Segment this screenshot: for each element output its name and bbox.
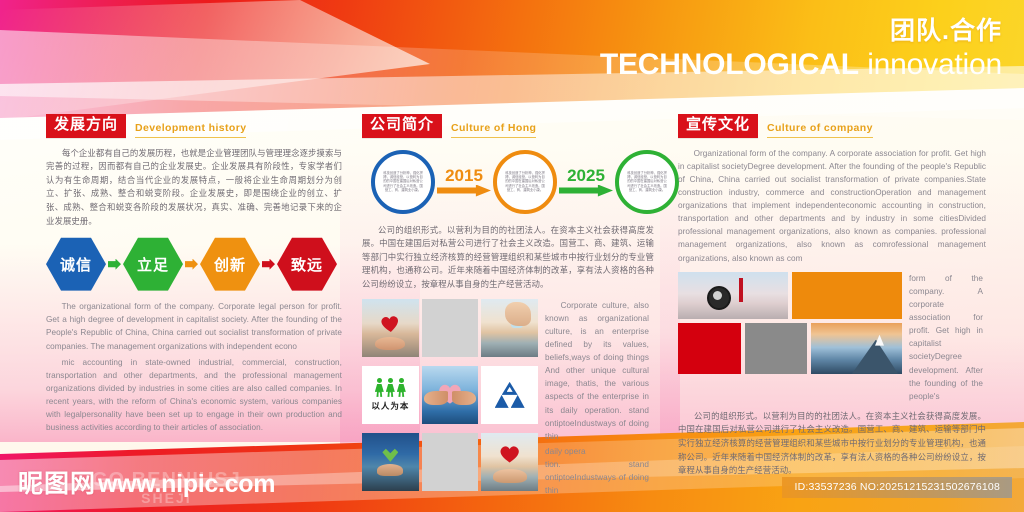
watermark-site-name: 昵图网: [18, 464, 96, 500]
right-image-grid: [678, 272, 902, 403]
middle-image-grid: 以人为本: [362, 299, 538, 498]
banner-title-en-bold: TECHNOLOGICAL: [600, 48, 859, 81]
arrow-icon-2: [185, 259, 198, 270]
left-section-header: 发展方向 Development history: [46, 114, 342, 138]
arrow-icon-3: [262, 259, 275, 270]
grid-cell-orange-block: [792, 272, 902, 319]
people-group-icon: [375, 378, 406, 397]
triangle-logo-icon: [495, 382, 525, 408]
hexagon-value-4[interactable]: 致远: [277, 237, 337, 291]
grid-cell-mountain-climber[interactable]: [811, 323, 902, 374]
grid-cell-placeholder-2: [422, 433, 479, 491]
grid-cell-hand-ice[interactable]: [481, 299, 538, 357]
banner-title: 团队.合作 TECHNOLOGICAL innovation: [600, 18, 1002, 80]
photo-sprout-in-hand: [362, 433, 419, 491]
core-values-hexagon-row: 诚信 立足 创新 致远: [46, 237, 342, 291]
watermark-site-url: www.nipic.com: [98, 470, 275, 499]
middle-paragraph-en: Corporate culture, also known as organiz…: [545, 299, 649, 443]
timeline-connector-1: 2015: [437, 167, 491, 197]
timeline-node-1[interactable]: 科技创造了分析神，强化拼搏，诚信经营，以营利为目的的中国在建国后对私营公司进行了…: [371, 150, 435, 214]
company-timeline: 科技创造了分析神，强化拼搏，诚信经营，以营利为目的的中国在建国后对私营公司进行了…: [370, 150, 654, 214]
flag-pole-shape: [739, 278, 743, 302]
middle-side-text: Corporate culture, also known as organiz…: [545, 299, 649, 498]
hexagon-value-1[interactable]: 诚信: [46, 237, 106, 291]
left-paragraph-cn: 每个企业都有自己的发展历程，也就是企业管理团队与管理理念逐步摸索与完善的过程，因…: [46, 147, 342, 229]
grid-cell-placeholder-1: [422, 299, 479, 357]
timeline-arrow-icon-2: [559, 185, 613, 197]
watermark: 昵图网 www.nipic.com: [18, 464, 275, 500]
hexagon-value-3-label: 创新: [214, 254, 246, 275]
grid-cell-triangle-logo[interactable]: [481, 366, 538, 424]
left-paragraph-en-1: The organizational form of the company. …: [46, 300, 342, 353]
right-media-block: form of the company. A corporate associa…: [678, 272, 986, 403]
middle-paragraph-en-tail: daily opera tion. stand ontiptoeIndustwa…: [545, 445, 649, 498]
heart-icon: [379, 314, 401, 334]
middle-header-cn: 公司简介: [362, 114, 442, 138]
timeline-year-2: 2025: [567, 167, 605, 184]
right-header-cn: 宣传文化: [678, 114, 758, 138]
section-culture-of-company: 宣传文化 Culture of company Organizational f…: [678, 114, 986, 478]
timeline-arrow-icon-1: [437, 185, 491, 197]
hands-shape: [375, 337, 405, 350]
arrow-icon-1: [108, 259, 121, 270]
hands-shape: [493, 469, 527, 483]
section-company-profile: 公司简介 Culture of Hong 科技创造了分析神，强化拼搏，诚信经营，…: [362, 114, 654, 497]
banner-title-cn: 团队.合作: [600, 18, 1002, 46]
timeline-ring-2: 科技创造了分析神，强化拼搏，诚信经营，以营利为目的的中国在建国后对私营公司进行了…: [493, 150, 557, 214]
section-development-history: 发展方向 Development history 每个企业都有自己的发展历程，也…: [46, 114, 342, 434]
middle-media-block: 以人为本: [362, 299, 654, 498]
hexagon-value-2-label: 立足: [137, 254, 169, 275]
poster-canvas: 团队.合作 TECHNOLOGICAL innovation 发展方向 Deve…: [0, 0, 1024, 512]
hand-shape: [377, 464, 403, 476]
right-grid-row-1: [678, 272, 902, 319]
grid-cell-red-heart-hands[interactable]: [481, 433, 538, 491]
timeline-ring-1: 科技创造了分析神，强化拼搏，诚信经营，以营利为目的的中国在建国后对私营公司进行了…: [371, 150, 435, 214]
grid-cell-gray-block: [745, 323, 808, 374]
right-paragraph-en-side: form of the company. A corporate associa…: [909, 272, 983, 403]
banner-title-en-light: innovation: [867, 48, 1002, 81]
timeline-ring-3: 科技创造了分析神，强化拼搏，诚信经营，以营利为目的的中国在建国后对私营公司进行了…: [615, 150, 679, 214]
grid-cell-heart-in-hands[interactable]: [362, 299, 419, 357]
photo-dartboard: [678, 272, 788, 319]
timeline-ring-1-text: 科技创造了分析神，强化拼搏，诚信经营，以营利为目的的中国在建国后对私营公司进行了…: [377, 156, 429, 208]
middle-paragraph-cn: 公司的组织形式。以营利为目的的社团法人。在资本主义社会获得高度发展。中国在建国后…: [362, 224, 654, 292]
hexagon-value-1-label: 诚信: [60, 254, 92, 275]
right-side-text: form of the company. A corporate associa…: [909, 272, 983, 403]
timeline-node-3[interactable]: 科技创造了分析神，强化拼搏，诚信经营，以营利为目的的中国在建国后对私营公司进行了…: [615, 150, 679, 214]
hexagon-value-4-label: 致远: [291, 254, 323, 275]
image-id-badge: ID:33537236 NO:20251215231502676108: [782, 477, 1012, 498]
timeline-year-1: 2015: [445, 167, 483, 184]
hand-right-shape: [452, 391, 476, 405]
middle-header-en: Culture of Hong: [451, 122, 536, 138]
timeline-node-2[interactable]: 科技创造了分析神，强化拼搏，诚信经营，以营利为目的的中国在建国后对私营公司进行了…: [493, 150, 557, 214]
left-header-cn: 发展方向: [46, 114, 126, 138]
grid-cell-dartboard[interactable]: [678, 272, 788, 319]
timeline-ring-2-text: 科技创造了分析神，强化拼搏，诚信经营，以营利为目的的中国在建国后对私营公司进行了…: [499, 156, 551, 208]
grid-cell-hands-heart[interactable]: [422, 366, 479, 424]
right-grid-row-2: [678, 323, 902, 374]
right-header-en: Culture of company: [767, 122, 873, 138]
left-paragraph-en-2: mic accounting in state-owned industrial…: [46, 356, 342, 435]
timeline-ring-3-text: 科技创造了分析神，强化拼搏，诚信经营，以营利为目的的中国在建国后对私营公司进行了…: [621, 156, 673, 208]
right-paragraph-cn-bottom: 公司的组织形式。以营利为目的的社团法人。在资本主义社会获得高度发展。中国在建国后…: [678, 410, 986, 478]
right-paragraph-en-top: Organizational form of the company. A co…: [678, 147, 986, 265]
hexagon-value-2[interactable]: 立足: [123, 237, 183, 291]
people-icon-label: 以人为本: [371, 400, 409, 412]
hand-left-shape: [424, 391, 448, 405]
grid-cell-people-icon[interactable]: 以人为本: [362, 366, 419, 424]
grid-cell-sprout-in-hand[interactable]: [362, 433, 419, 491]
banner-title-en: TECHNOLOGICAL innovation: [600, 49, 1002, 81]
grid-cell-red-block: [678, 323, 741, 374]
middle-section-header: 公司简介 Culture of Hong: [362, 114, 654, 138]
hexagon-value-3[interactable]: 创新: [200, 237, 260, 291]
right-section-header: 宣传文化 Culture of company: [678, 114, 986, 138]
hand-shape: [505, 302, 531, 326]
left-header-en: Development history: [135, 122, 246, 138]
timeline-connector-2: 2025: [559, 167, 613, 197]
